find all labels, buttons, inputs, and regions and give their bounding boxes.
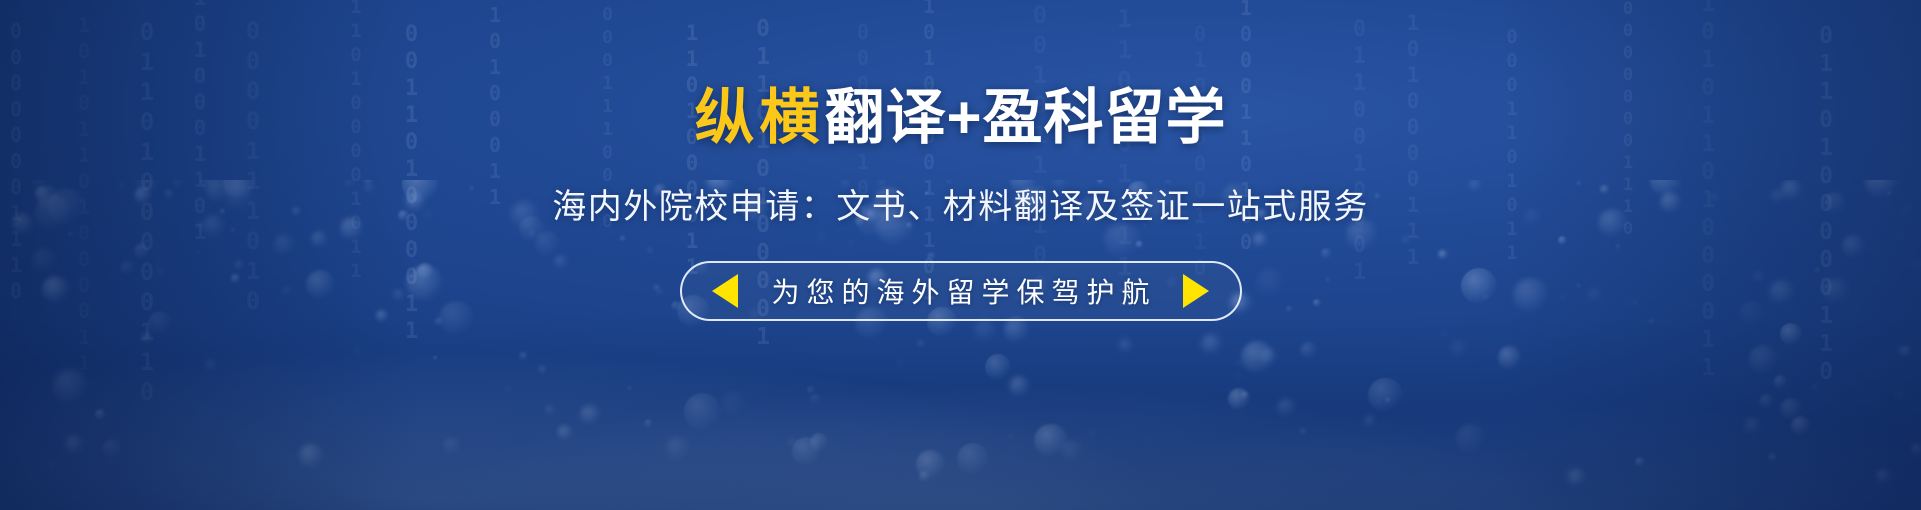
- banner-headline: 纵横翻译+盈科留学: [694, 88, 1226, 148]
- banner-content: 纵横翻译+盈科留学 海内外院校申请：文书、材料翻译及签证一站式服务 为您的海外留…: [0, 0, 1921, 510]
- headline-main: 翻译+盈科留学: [824, 84, 1226, 151]
- promo-banner: 0000000111010101101000011011010000011010…: [0, 0, 1921, 510]
- banner-subtitle: 海内外院校申请：文书、材料翻译及签证一站式服务: [552, 179, 1369, 228]
- triangle-left-icon: [712, 274, 738, 308]
- cta-button[interactable]: 为您的海外留学保驾护航: [680, 261, 1242, 321]
- headline-accent: 纵横: [694, 84, 824, 151]
- triangle-right-icon: [1183, 274, 1209, 308]
- cta-button-label: 为您的海外留学保驾护航: [764, 271, 1156, 311]
